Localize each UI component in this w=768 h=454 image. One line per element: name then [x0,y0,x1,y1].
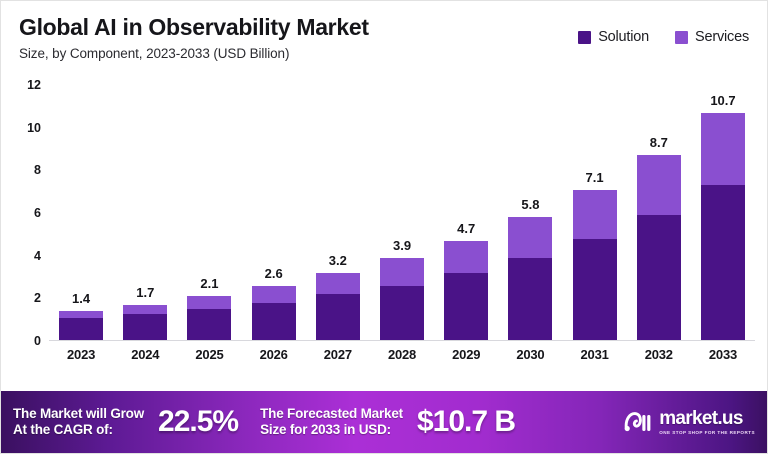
y-axis-tick: 12 [27,78,41,92]
bar-value-label: 2.6 [265,266,283,281]
legend-swatch-services [675,31,688,44]
x-axis-tick: 2028 [370,347,434,362]
bar-column[interactable]: 3.9 [370,85,434,341]
bar-segment-solution[interactable] [252,303,296,341]
bar-column[interactable]: 8.7 [627,85,691,341]
bar-stack[interactable]: 1.7 [123,305,167,341]
bar-column[interactable]: 3.2 [306,85,370,341]
legend-item-services[interactable]: Services [675,29,749,45]
market-us-logo-icon [622,409,652,435]
bar-column[interactable]: 10.7 [691,85,755,341]
cagr-value: 22.5% [158,405,238,439]
bar-column[interactable]: 5.8 [498,85,562,341]
y-axis-tick: 4 [34,249,41,263]
x-axis-tick: 2033 [691,347,755,362]
bar-segment-solution[interactable] [573,239,617,341]
legend-label-services: Services [695,29,749,45]
cagr-block: The Market will Grow At the CAGR of: [13,406,144,438]
bar-value-label: 2.1 [200,276,218,291]
bar-segment-solution[interactable] [637,215,681,341]
bar-column[interactable]: 7.1 [563,85,627,341]
chart-plot-area: 024681012 1.41.72.12.63.23.94.75.87.18.7… [1,85,768,377]
x-axis-tick: 2024 [113,347,177,362]
forecast-label-line2: Size for 2033 in USD: [260,422,391,437]
cagr-label: The Market will Grow At the CAGR of: [13,406,144,438]
x-axis-tick: 2032 [627,347,691,362]
bar-value-label: 5.8 [521,197,539,212]
bar-column[interactable]: 4.7 [434,85,498,341]
bar-stack[interactable]: 2.1 [187,296,231,341]
chart-infographic: Global AI in Observability Market Size, … [0,0,768,454]
bar-segment-solution[interactable] [123,314,167,341]
bar-stack[interactable]: 10.7 [701,113,745,341]
y-axis-tick: 8 [34,163,41,177]
bar-segment-solution[interactable] [444,273,488,341]
x-axis-tick: 2029 [434,347,498,362]
bar-value-label: 8.7 [650,135,668,150]
x-axis-tick: 2025 [177,347,241,362]
bar-segment-solution[interactable] [701,185,745,341]
bar-stack[interactable]: 3.2 [316,273,360,341]
bar-segment-services[interactable] [316,273,360,294]
bar-value-label: 1.4 [72,291,90,306]
x-axis: 2023202420252026202720282029203020312032… [49,347,755,362]
chart-legend: Solution Services [578,29,749,45]
bar-series-container: 1.41.72.12.63.23.94.75.87.18.710.7 [49,85,755,341]
y-axis: 024681012 [1,85,47,341]
x-axis-tick: 2023 [49,347,113,362]
bar-value-label: 3.2 [329,253,347,268]
forecast-label: The Forecasted Market Size for 2033 in U… [260,406,403,438]
x-axis-tick: 2027 [306,347,370,362]
bar-stack[interactable]: 4.7 [444,241,488,341]
bar-stack[interactable]: 1.4 [59,311,103,341]
axis-baseline [49,340,755,341]
legend-swatch-solution [578,31,591,44]
bar-value-label: 3.9 [393,238,411,253]
y-axis-tick: 6 [34,206,41,220]
bar-stack[interactable]: 2.6 [252,286,296,341]
market-us-logo[interactable]: market.us ONE STOP SHOP FOR THE REPORTS [622,409,755,436]
chart-subtitle: Size, by Component, 2023-2033 (USD Billi… [19,46,753,61]
bar-value-label: 1.7 [136,285,154,300]
bar-column[interactable]: 2.6 [242,85,306,341]
bar-segment-solution[interactable] [187,309,231,341]
bar-value-label: 7.1 [586,170,604,185]
legend-label-solution: Solution [598,29,649,45]
bar-stack[interactable]: 3.9 [380,258,424,341]
forecast-label-line1: The Forecasted Market [260,406,403,421]
x-axis-tick: 2031 [563,347,627,362]
market-us-logo-text: market.us ONE STOP SHOP FOR THE REPORTS [659,409,755,436]
chart-header: Global AI in Observability Market Size, … [19,15,753,77]
x-axis-tick: 2026 [242,347,306,362]
bar-segment-services[interactable] [637,155,681,215]
bar-segment-services[interactable] [573,190,617,239]
bar-column[interactable]: 1.4 [49,85,113,341]
bar-segment-services[interactable] [508,217,552,258]
logo-name: market.us [659,409,755,428]
bar-segment-services[interactable] [444,241,488,273]
cagr-label-line1: The Market will Grow [13,406,144,421]
bar-segment-services[interactable] [701,113,745,186]
bar-segment-services[interactable] [123,305,167,315]
bar-stack[interactable]: 7.1 [573,190,617,341]
bar-segment-services[interactable] [187,296,231,309]
bar-value-label: 10.7 [710,93,735,108]
chart-grid-area: 1.41.72.12.63.23.94.75.87.18.710.7 [49,85,755,341]
y-axis-tick: 2 [34,291,41,305]
summary-banner: The Market will Grow At the CAGR of: 22.… [1,391,768,453]
forecast-block: The Forecasted Market Size for 2033 in U… [260,406,403,438]
y-axis-tick: 10 [27,121,41,135]
bar-segment-solution[interactable] [508,258,552,341]
bar-segment-solution[interactable] [316,294,360,341]
x-axis-tick: 2030 [498,347,562,362]
bar-segment-solution[interactable] [59,318,103,341]
legend-item-solution[interactable]: Solution [578,29,649,45]
bar-segment-services[interactable] [380,258,424,286]
forecast-value: $10.7 B [417,405,515,439]
bar-segment-services[interactable] [252,286,296,303]
bar-stack[interactable]: 5.8 [508,217,552,341]
logo-tagline: ONE STOP SHOP FOR THE REPORTS [659,431,755,436]
y-axis-tick: 0 [34,334,41,348]
cagr-label-line2: At the CAGR of: [13,422,113,437]
bar-column[interactable]: 1.7 [113,85,177,341]
bar-stack[interactable]: 8.7 [637,155,681,341]
bar-segment-solution[interactable] [380,286,424,341]
bar-column[interactable]: 2.1 [177,85,241,341]
bar-value-label: 4.7 [457,221,475,236]
